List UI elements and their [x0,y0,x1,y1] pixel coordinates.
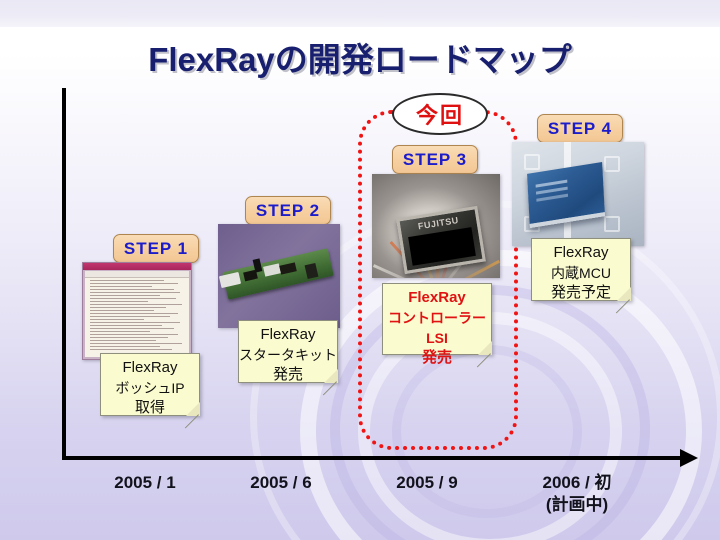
step-1-note: FlexRay ボッシュIP 取得 [100,353,200,416]
axis-tick-2005-9: 2005 / 9 [362,472,492,494]
step-3-note: FlexRay コントローラーLSI 発売 [382,283,492,355]
current-step-badge-label: 今回 [416,98,464,130]
document-window-menubar [85,271,189,278]
step-4-note-line2: 内蔵MCU [532,263,630,283]
step-1-photo-document-window [82,262,192,360]
axis-tick-label: 2005 / 1 [114,473,175,492]
axis-tick-label: 2005 / 6 [250,473,311,492]
step-1-pill-label: STEP 1 [124,239,188,259]
step-2-pill[interactable]: STEP 2 [245,196,331,225]
step-1-note-line1: FlexRay [101,358,199,378]
board-pad [604,216,620,232]
step-4-note-line3: 発売予定 [532,283,630,303]
step-4-photo-mcu-package [512,142,644,246]
step-1-note-line3: 取得 [101,398,199,418]
step-4-pill[interactable]: STEP 4 [537,114,623,143]
chip-top-marking-area [408,227,476,266]
qfp-chip-package: FUJITSU [396,206,486,274]
axis-tick-2005-6: 2005 / 6 [216,472,346,494]
axis-tick-2006-early: 2006 / 初 (計画中) [512,472,642,516]
step-2-note-line3: 発売 [239,365,337,385]
step-3-photo-fujitsu-controller-chip: FUJITSU [372,174,500,278]
current-step-badge: 今回 [392,93,488,135]
step-4-pill-label: STEP 4 [548,119,612,139]
slide-canvas: FlexRayの開発ロードマップ STEP 1 FlexRay ボッシュIP 取… [0,0,720,540]
axis-tick-label: 2005 / 9 [396,473,457,492]
document-window-body [85,278,189,357]
axis-tick-label: 2006 / 初 [543,473,612,492]
board-pad [524,154,540,170]
slide-top-band [0,0,720,27]
x-axis-arrow-icon [680,449,698,467]
y-axis-line [62,88,66,460]
step-2-note-line1: FlexRay [239,325,337,345]
step-2-pill-label: STEP 2 [256,201,320,221]
step-3-pill[interactable]: STEP 3 [392,145,478,174]
document-window-titlebar [83,263,191,270]
step-4-note-line1: FlexRay [532,243,630,263]
x-axis-line [62,456,682,460]
step-3-note-line3: 発売 [383,348,491,368]
step-1-pill[interactable]: STEP 1 [113,234,199,263]
board-pad [604,156,620,172]
step-3-note-line2: コントローラーLSI [383,308,491,348]
step-3-note-line1: FlexRay [383,288,491,308]
bga-package [527,162,605,228]
step-2-photo-starter-kit-board [218,224,340,328]
step-2-note-line2: スタータキット [239,345,337,365]
bga-top-marking [536,180,568,188]
axis-tick-sublabel: (計画中) [512,494,642,516]
step-1-note-line2: ボッシュIP [101,378,199,398]
page-title: FlexRayの開発ロードマップ [0,33,720,81]
step-2-note: FlexRay スタータキット 発売 [238,320,338,383]
step-3-pill-label: STEP 3 [403,150,467,170]
axis-tick-2005-1: 2005 / 1 [80,472,210,494]
step-4-note: FlexRay 内蔵MCU 発売予定 [531,238,631,301]
